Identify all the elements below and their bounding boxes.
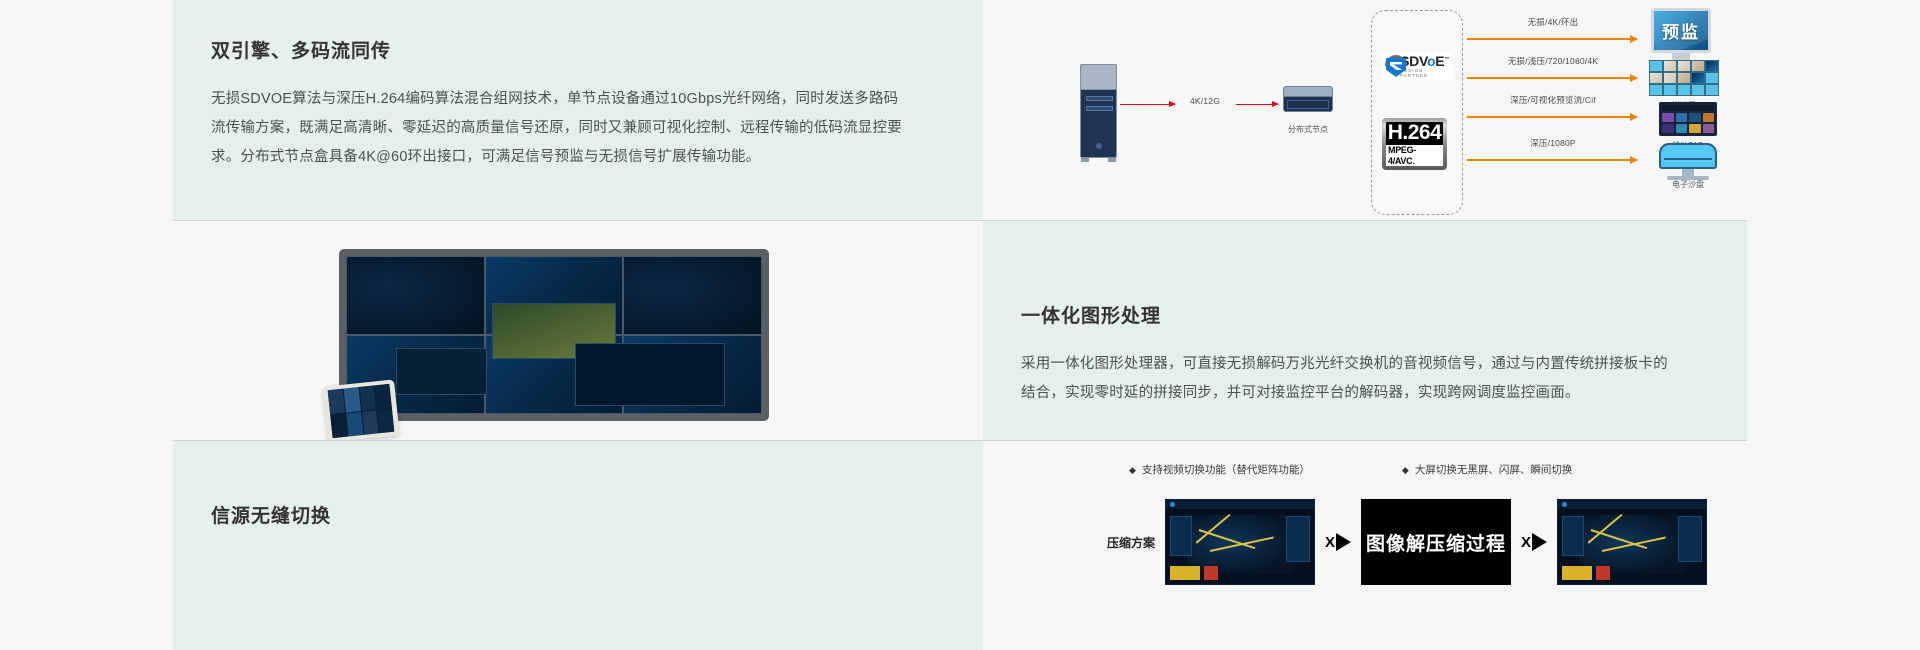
section-dual-engine: 双引擎、多码流同传 无损SDVOE算法与深压H.264编码算法混合组网技术，单节… — [173, 0, 1747, 220]
section1-title: 双引擎、多码流同传 — [211, 36, 903, 63]
source-screenshot-1 — [1165, 499, 1315, 585]
flow-label-3: 深压/可视化预览流/Cif — [1510, 94, 1596, 106]
flow-arrow-3 — [1467, 116, 1637, 118]
section2-body: 采用一体化图形处理器，可直接无损解码万兆光纤交换机的音视频信号，通过与内置传统拼… — [1021, 350, 1673, 408]
link-arrow-a — [1120, 104, 1175, 105]
sdvoe-logo: SDVoE™ DESIGN PARTNER — [1381, 52, 1453, 80]
transform-arrow-2: X — [1521, 533, 1547, 551]
x-mark-2: X — [1521, 534, 1531, 551]
bullet-item-2: 大屏切换无黑屏、闪屏、瞬间切换 — [1402, 462, 1572, 477]
flow-arrow-2 — [1467, 77, 1637, 79]
h264-dot: . — [1412, 156, 1414, 166]
section1-body: 无损SDVOE算法与深压H.264编码算法混合组网技术，单节点设备通过10Gbp… — [211, 85, 903, 172]
sdvoe-topology-diagram: 4K/12G 分布式节点 SDVoE™ DESIG — [983, 0, 1747, 220]
flow-label-2: 无损/浅压/720/1080/4K — [1508, 55, 1598, 67]
link-arrow-b — [1236, 104, 1278, 105]
flow-arrow-4 — [1467, 159, 1637, 161]
flow-label-4: 深压/1080P — [1530, 137, 1576, 149]
decompression-label: 图像解压缩过程 — [1366, 529, 1506, 556]
h264-title: H.264 — [1388, 122, 1442, 143]
section2-text-pane: 一体化图形处理 采用一体化图形处理器，可直接无损解码万兆光纤交换机的音视频信号，… — [983, 221, 1747, 440]
video-wall-photo — [339, 249, 769, 421]
link-label-4k12g: 4K/12G — [1190, 96, 1220, 106]
bullet-item-1: 支持视频切换功能（替代矩阵功能） — [1129, 462, 1310, 477]
preview-monitor-icon: 预监 — [1651, 8, 1711, 53]
section2-image-pane — [173, 221, 983, 440]
compression-flow-row: 压缩方案 X 图像解压缩过程 — [1107, 499, 1707, 585]
server-tower-icon — [1080, 64, 1117, 162]
compression-scheme-label: 压缩方案 — [1107, 534, 1155, 551]
section3-image-pane: 支持视频切换功能（替代矩阵功能） 大屏切换无黑屏、闪屏、瞬间切换 压缩方案 — [983, 441, 1747, 650]
sdvoe-name-suffix: E — [1435, 53, 1444, 69]
section3-bullets: 支持视频切换功能（替代矩阵功能） 大屏切换无黑屏、闪屏、瞬间切换 — [1129, 462, 1572, 477]
feature-page: 双引擎、多码流同传 无损SDVOE算法与深压H.264编码算法混合组网技术，单节… — [0, 0, 1920, 650]
source-screenshot-2 — [1557, 499, 1707, 585]
section1-diagram-pane: 4K/12G 分布式节点 SDVoE™ DESIG — [983, 0, 1747, 220]
mobile-pad-icon — [1659, 102, 1717, 136]
x-mark-1: X — [1325, 534, 1335, 551]
distributed-node-caption: 分布式节点 — [1288, 124, 1328, 135]
section-integrated-graphics: 一体化图形处理 采用一体化图形处理器，可直接无损解码万兆光纤交换机的音视频信号，… — [173, 221, 1747, 440]
codec-group-box — [1371, 10, 1463, 215]
section3-text-pane: 信源无缝切换 — [173, 441, 983, 650]
section1-text-pane: 双引擎、多码流同传 无损SDVOE算法与深压H.264编码算法混合组网技术，单节… — [173, 0, 983, 220]
sand-table-caption: 电子沙盘 — [1672, 179, 1704, 190]
sdvoe-mark-icon — [1385, 55, 1396, 77]
sdvoe-name-mid: o — [1427, 53, 1435, 69]
tablet-photo — [322, 379, 399, 440]
sdvoe-tm: ™ — [1444, 57, 1449, 63]
section3-title: 信源无缝切换 — [211, 501, 903, 528]
monitor-screen-text: 预监 — [1662, 18, 1700, 43]
section2-title: 一体化图形处理 — [1021, 301, 1673, 328]
h264-logo: H.264 MPEG-4/AVC. — [1382, 118, 1447, 170]
sdvoe-subtitle: DESIGN PARTNER — [1400, 69, 1449, 77]
transform-arrow-1: X — [1325, 533, 1351, 551]
flow-arrow-1 — [1467, 38, 1637, 40]
decompression-stage: 图像解压缩过程 — [1361, 499, 1511, 585]
section-seamless-switching: 信源无缝切换 支持视频切换功能（替代矩阵功能） 大屏切换无黑屏、闪屏、瞬间切换 … — [173, 441, 1747, 650]
distributed-node-icon — [1283, 86, 1333, 112]
sand-table-icon — [1659, 143, 1717, 180]
flow-label-1: 无损/4K/环出 — [1528, 16, 1579, 28]
video-wall-icon — [1649, 60, 1719, 96]
